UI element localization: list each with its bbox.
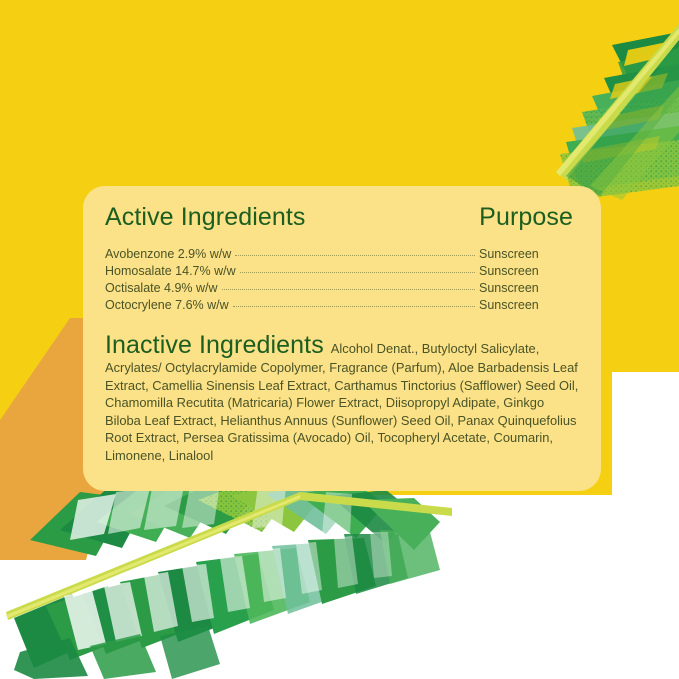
table-row: Avobenzone 2.9% w/w Sunscreen bbox=[105, 246, 579, 263]
table-row: Octisalate 4.9% w/w Sunscreen bbox=[105, 280, 579, 297]
ingredient-name: Homosalate 14.7% w/w bbox=[105, 263, 236, 280]
ingredient-purpose: Sunscreen bbox=[479, 246, 579, 263]
ingredients-panel-page: Active Ingredients Purpose Avobenzone 2.… bbox=[0, 0, 679, 679]
dot-leader bbox=[235, 255, 475, 256]
dot-leader bbox=[222, 289, 475, 290]
active-ingredients-heading: Active Ingredients bbox=[105, 204, 306, 232]
ingredient-purpose: Sunscreen bbox=[479, 263, 579, 280]
ingredient-purpose: Sunscreen bbox=[479, 280, 579, 297]
inactive-ingredients-block: Inactive IngredientsAlcohol Denat., Buty… bbox=[105, 332, 579, 465]
ingredient-purpose: Sunscreen bbox=[479, 297, 579, 314]
purpose-heading: Purpose bbox=[479, 204, 573, 232]
ingredient-name: Octisalate 4.9% w/w bbox=[105, 280, 218, 297]
ingredient-name: Avobenzone 2.9% w/w bbox=[105, 246, 231, 263]
table-row: Homosalate 14.7% w/w Sunscreen bbox=[105, 263, 579, 280]
card-heading-row: Active Ingredients Purpose bbox=[105, 204, 579, 232]
dot-leader bbox=[240, 272, 475, 273]
inactive-ingredients-heading: Inactive Ingredients bbox=[105, 331, 324, 359]
ingredient-name: Octocrylene 7.6% w/w bbox=[105, 297, 229, 314]
table-row: Octocrylene 7.6% w/w Sunscreen bbox=[105, 297, 579, 314]
active-ingredients-table: Avobenzone 2.9% w/w Sunscreen Homosalate… bbox=[105, 246, 579, 314]
dot-leader bbox=[233, 306, 475, 307]
ingredients-card: Active Ingredients Purpose Avobenzone 2.… bbox=[83, 186, 601, 491]
inactive-ingredients-text: Alcohol Denat., Butyloctyl Salicylate, A… bbox=[105, 341, 578, 463]
